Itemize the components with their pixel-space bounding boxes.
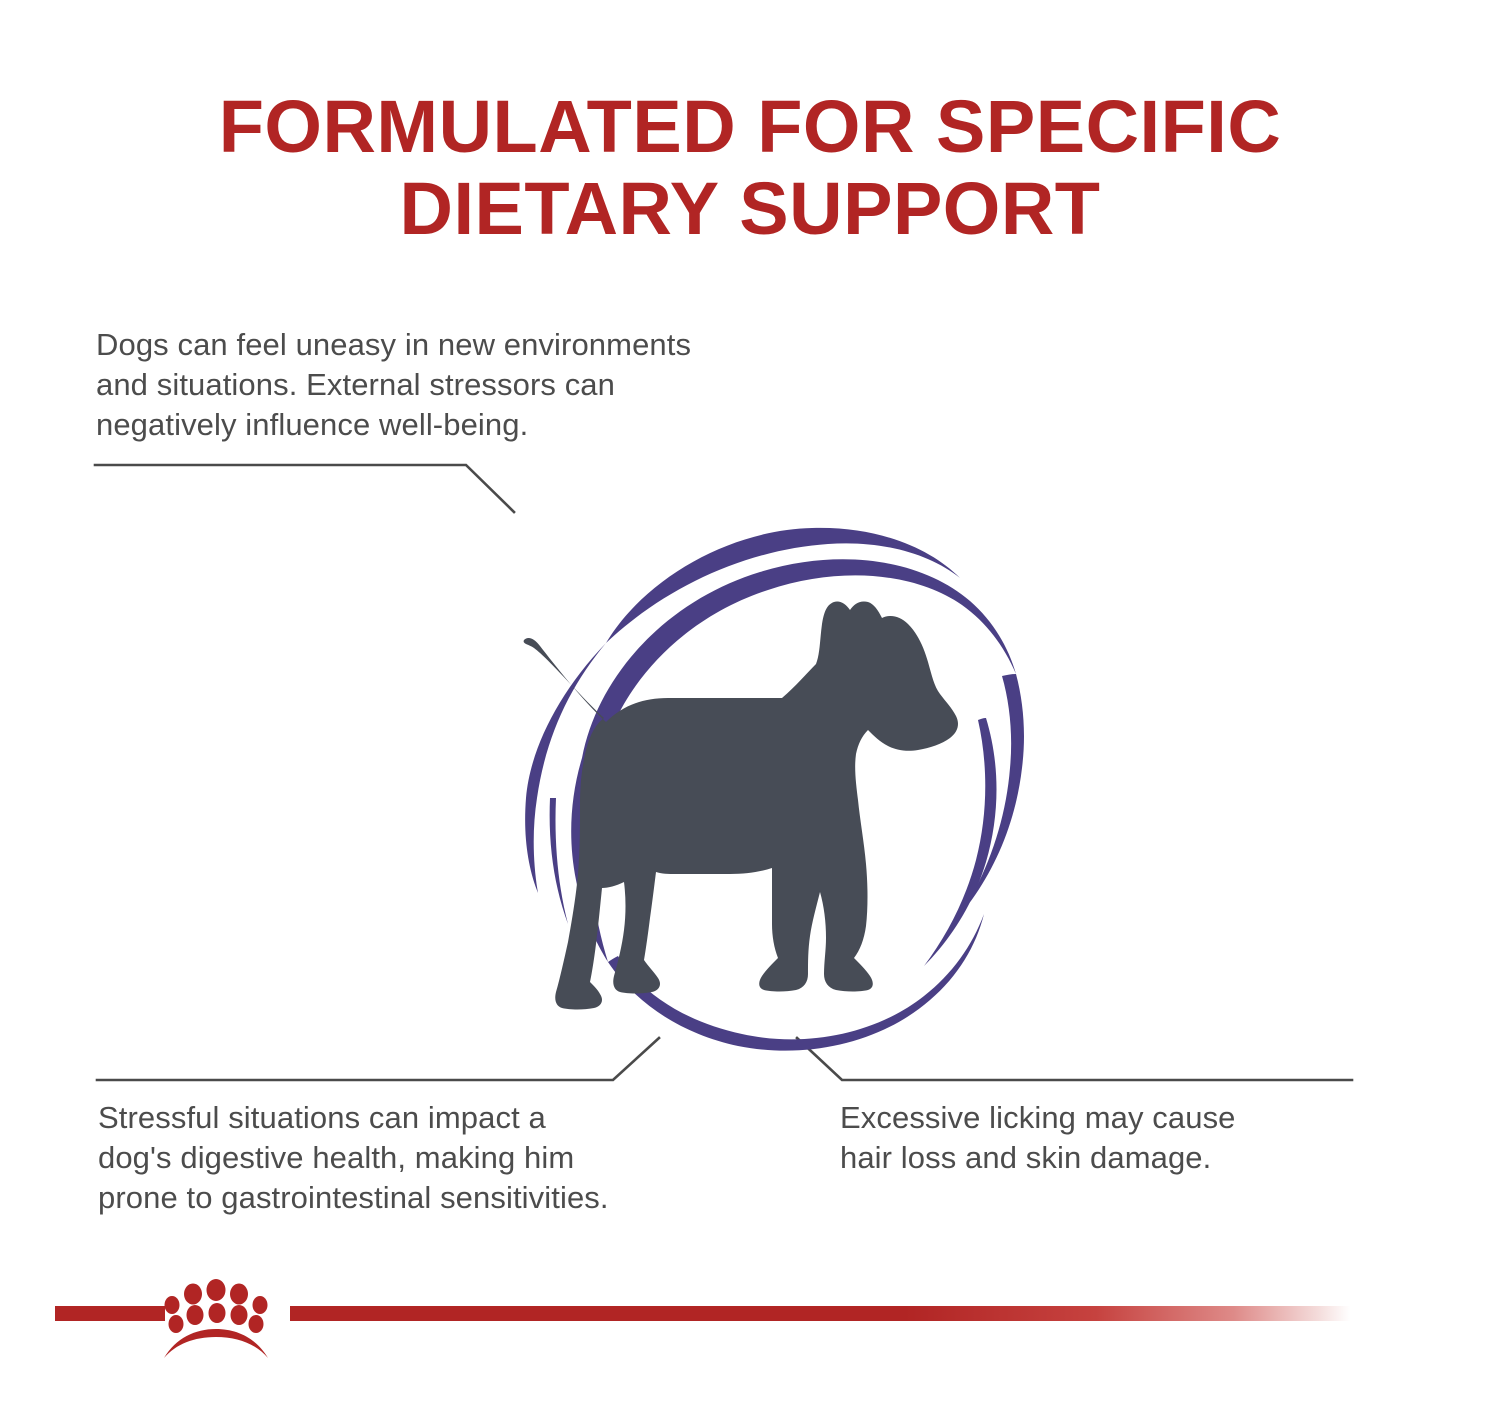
page-title-line-2: DIETARY SUPPORT [0,168,1500,250]
callout-top-left: Dogs can feel uneasy in new environments… [96,325,691,445]
callout-bottom-left-line-2: dog's digestive health, making him [98,1138,609,1178]
callout-bottom-left-line-1: Stressful situations can impact a [98,1098,609,1138]
arc-outer-right [924,718,997,966]
brand-bar-right-segment [290,1306,1350,1321]
callout-bottom-right-line-2: hair loss and skin damage. [840,1138,1236,1178]
page-title: FORMULATED FOR SPECIFIC DIETARY SUPPORT [0,86,1500,250]
callout-bottom-left-line-3: prone to gastrointestinal sensitivities. [98,1178,609,1218]
callout-top-left-line-2: and situations. External stressors can [96,365,691,405]
callout-bottom-left: Stressful situations can impact a dog's … [98,1098,609,1218]
crown-dot-top-right [230,1284,248,1305]
brand-bar-left-segment [55,1306,165,1321]
callout-top-left-line-1: Dogs can feel uneasy in new environments [96,325,691,365]
callout-bottom-right-line-1: Excessive licking may cause [840,1098,1236,1138]
dog-emblem [430,468,1030,1058]
crown-dot-mid-center [209,1303,226,1323]
crown-dot-top-left [184,1284,202,1305]
crown-dot-lower-left [169,1315,184,1333]
infographic-page: FORMULATED FOR SPECIFIC DIETARY SUPPORT [0,0,1500,1427]
crown-dot-lower-right [249,1315,264,1333]
crown-dot-outer-left [165,1296,180,1314]
arc-accent-lower-left [550,798,568,924]
crown-dot-top-center [207,1279,226,1301]
page-title-line-1: FORMULATED FOR SPECIFIC [0,86,1500,168]
royal-canin-crown-icon [150,1272,282,1364]
crown-base-arc [164,1329,268,1358]
brand-footer-bar [0,1295,1500,1331]
crown-dot-mid-left [187,1305,204,1325]
callout-top-left-line-3: negatively influence well-being. [96,405,691,445]
crown-dot-outer-right [253,1296,268,1314]
callout-bottom-right: Excessive licking may cause hair loss an… [840,1098,1236,1178]
crown-dot-mid-right [231,1305,248,1325]
